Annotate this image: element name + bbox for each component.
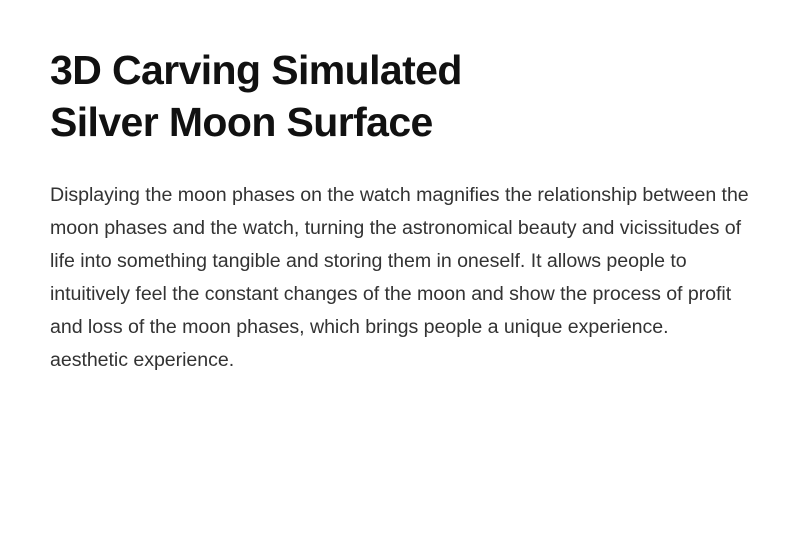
- product-description-text: Displaying the moon phases on the watch …: [50, 179, 750, 377]
- page-title: 3D Carving Simulated Silver Moon Surface: [50, 44, 610, 148]
- product-feature-content: 3D Carving Simulated Silver Moon Surface…: [50, 44, 760, 377]
- product-feature-page: 3D Carving Simulated Silver Moon Surface…: [0, 0, 800, 549]
